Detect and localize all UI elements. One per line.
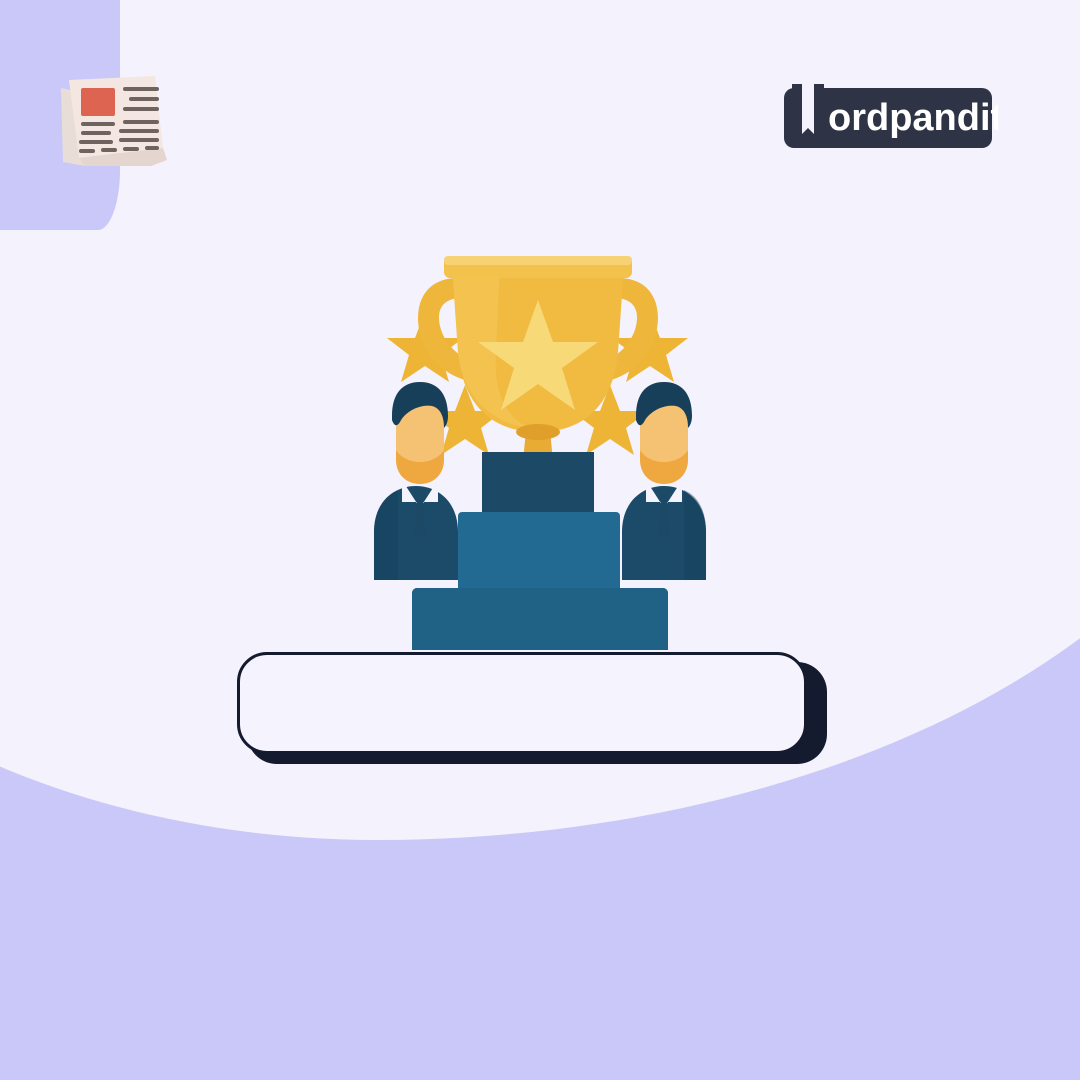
brand-name-text: ordpandit: [828, 97, 998, 139]
definition-block: [40, 808, 1040, 814]
word-card-graphic: ordpandit: [0, 0, 1080, 1080]
podium-top-tier: [482, 452, 594, 522]
word-card-body: [237, 652, 807, 754]
newspaper-icon: [55, 70, 173, 168]
podium-base-front: [412, 588, 668, 650]
person-left: [374, 382, 458, 580]
brand-logo[interactable]: ordpandit: [778, 84, 998, 152]
page-title: [190, 89, 610, 123]
word-card: [237, 652, 827, 764]
trophy-podium-winners-illustration: [340, 240, 740, 650]
header: ordpandit: [0, 0, 1080, 196]
